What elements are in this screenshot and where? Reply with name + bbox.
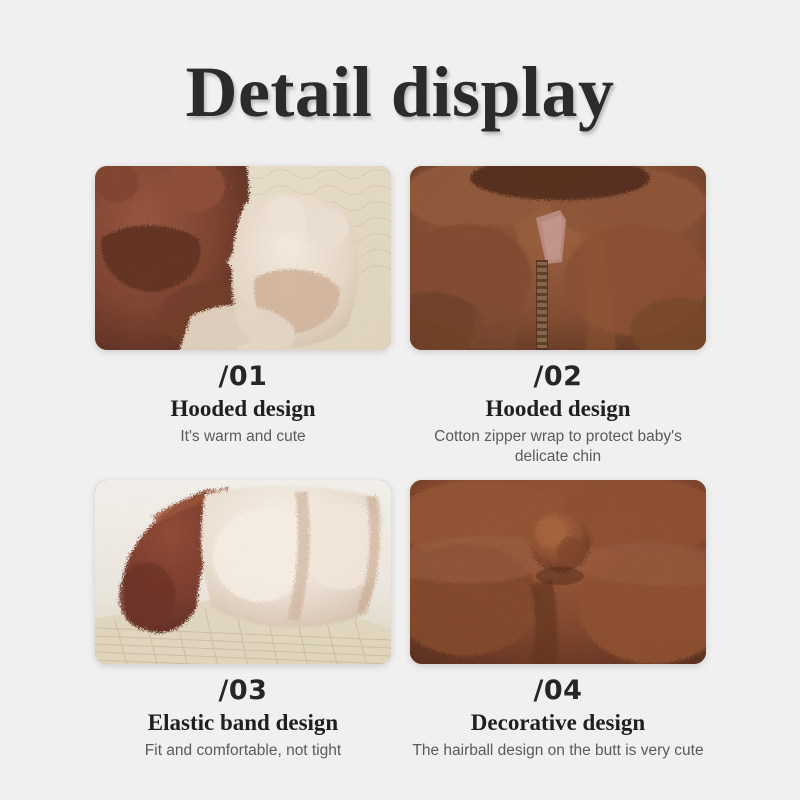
item-subtitle-02: Cotton zipper wrap to protect baby's del… [393, 424, 723, 467]
item-number-03: /03 [88, 675, 398, 706]
zipper-chin-guard-photo [410, 166, 706, 350]
item-subtitle-04: The hairball design on the butt is very … [393, 738, 723, 761]
item-subtitle-01: It's warm and cute [88, 424, 398, 447]
caption-03: /03 Elastic band design Fit and comforta… [88, 664, 398, 761]
elastic-cuffs-photo [95, 480, 391, 664]
item-headline-02: Hooded design [403, 392, 713, 424]
item-headline-01: Hooded design [88, 392, 398, 424]
item-number-02: /02 [403, 361, 713, 392]
page-title: Detail display [0, 52, 800, 132]
caption-02: /02 Hooded design Cotton zipper wrap to … [403, 350, 713, 467]
item-number-04: /04 [403, 675, 713, 706]
item-headline-04: Decorative design [403, 706, 713, 738]
detail-item-03[interactable]: /03 Elastic band design Fit and comforta… [88, 480, 398, 761]
hooded-jackets-pair-photo [95, 166, 391, 350]
detail-display-page: Detail display [0, 0, 800, 800]
item-headline-03: Elastic band design [88, 706, 398, 738]
caption-01: /01 Hooded design It's warm and cute [88, 350, 398, 447]
item-subtitle-03: Fit and comfortable, not tight [88, 738, 398, 761]
detail-item-04[interactable]: /04 Decorative design The hairball desig… [403, 480, 713, 761]
detail-item-01[interactable]: /01 Hooded design It's warm and cute [88, 166, 398, 447]
item-number-01: /01 [88, 361, 398, 392]
hairball-tail-photo [410, 480, 706, 664]
caption-04: /04 Decorative design The hairball desig… [403, 664, 713, 761]
detail-grid: /01 Hooded design It's warm and cute [0, 166, 800, 766]
detail-item-02[interactable]: /02 Hooded design Cotton zipper wrap to … [403, 166, 713, 467]
